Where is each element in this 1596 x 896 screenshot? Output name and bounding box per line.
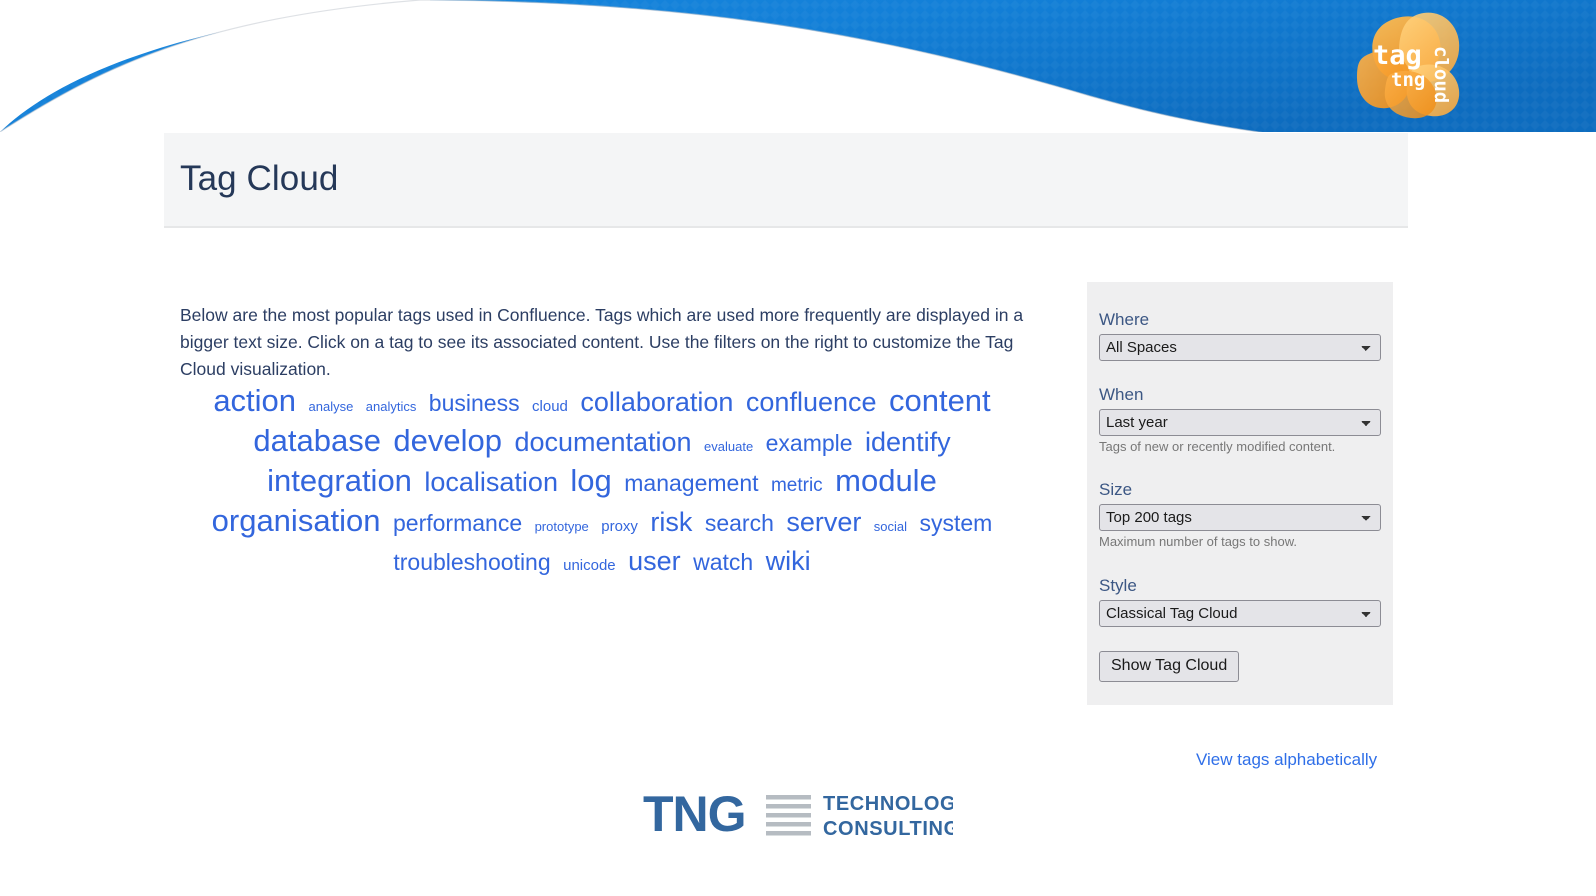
filter-when-hint: Tags of new or recently modified content… [1099,439,1383,454]
tag-link[interactable]: wiki [766,544,811,578]
header-banner: tag tng cloud [0,0,1596,132]
tag-link[interactable]: module [835,464,937,498]
tng-logo-bars [766,795,811,836]
tag-link[interactable]: risk [650,505,692,539]
filter-where: Where All Spaces [1099,310,1383,361]
intro-paragraph: Below are the most popular tags used in … [180,302,1050,383]
logo-text-tng: tng [1391,69,1425,91]
filter-when-select[interactable]: Last year [1099,409,1381,436]
tag-link[interactable]: system [920,506,993,540]
tag-link[interactable]: evaluate [704,430,753,464]
filter-when-label: When [1099,385,1383,405]
tag-link[interactable]: database [253,424,381,458]
filter-where-label: Where [1099,310,1383,330]
tag-link[interactable]: analytics [366,390,417,424]
view-tags-alphabetically-link[interactable]: View tags alphabetically [1196,750,1377,770]
tag-link[interactable]: analyse [309,390,354,424]
tng-footer-logo: TNG TECHNOLOGY CONSULTING [643,789,953,841]
filter-size: Size Top 200 tags Maximum number of tags… [1099,480,1383,549]
tag-link[interactable]: unicode [563,549,616,583]
filter-style-select[interactable]: Classical Tag Cloud [1099,600,1381,627]
filter-when: When Last year Tags of new or recently m… [1099,385,1383,454]
show-tag-cloud-button[interactable]: Show Tag Cloud [1099,651,1239,682]
tng-logo-line1: TECHNOLOGY [823,793,953,815]
tag-link[interactable]: business [429,386,520,420]
tag-link[interactable]: content [889,384,991,418]
tag-link[interactable]: watch [693,545,753,579]
tag-link[interactable]: performance [393,506,522,540]
filter-style-label: Style [1099,576,1383,596]
tag-cloud: action analyse analytics business cloud … [196,384,1008,583]
tag-link[interactable]: metric [771,469,823,503]
filter-style: Style Classical Tag Cloud [1099,576,1383,627]
tagcloud-logo[interactable]: tag tng cloud [1347,8,1473,120]
tag-link[interactable]: proxy [601,510,638,544]
tng-logo-line2: CONSULTING [823,818,953,840]
page-root: tag tng cloud Tag Cloud Below are the mo… [0,0,1596,896]
filter-size-select[interactable]: Top 200 tags [1099,504,1381,531]
logo-text-tag: tag [1373,40,1422,71]
tag-link[interactable]: confluence [746,385,877,419]
tag-link[interactable]: log [570,464,611,498]
tag-link[interactable]: action [213,384,296,418]
logo-text-cloud: cloud [1430,46,1452,103]
filter-where-select[interactable]: All Spaces [1099,334,1381,361]
filter-size-label: Size [1099,480,1383,500]
page-title-bar: Tag Cloud [164,133,1408,228]
tng-logo-mark: TNG [643,789,746,841]
tag-link[interactable]: integration [267,464,412,498]
tag-link[interactable]: server [786,505,861,539]
tag-link[interactable]: documentation [514,425,691,459]
tag-link[interactable]: prototype [535,510,589,544]
tag-link[interactable]: identify [865,425,951,459]
page-title: Tag Cloud [180,159,339,199]
tag-link[interactable]: localisation [424,465,558,499]
tag-link[interactable]: collaboration [580,385,733,419]
tag-link[interactable]: organisation [212,504,381,538]
filters-panel: Where All Spaces When Last year Tags of … [1087,282,1393,705]
tag-link[interactable]: example [766,426,853,460]
tag-link[interactable]: management [624,466,758,500]
filter-size-hint: Maximum number of tags to show. [1099,534,1383,549]
tag-link[interactable]: user [628,544,681,578]
tag-link[interactable]: cloud [532,390,568,424]
tag-link[interactable]: troubleshooting [393,545,550,579]
tag-link[interactable]: search [705,506,774,540]
tag-link[interactable]: social [874,510,907,544]
tag-link[interactable]: develop [393,424,502,458]
